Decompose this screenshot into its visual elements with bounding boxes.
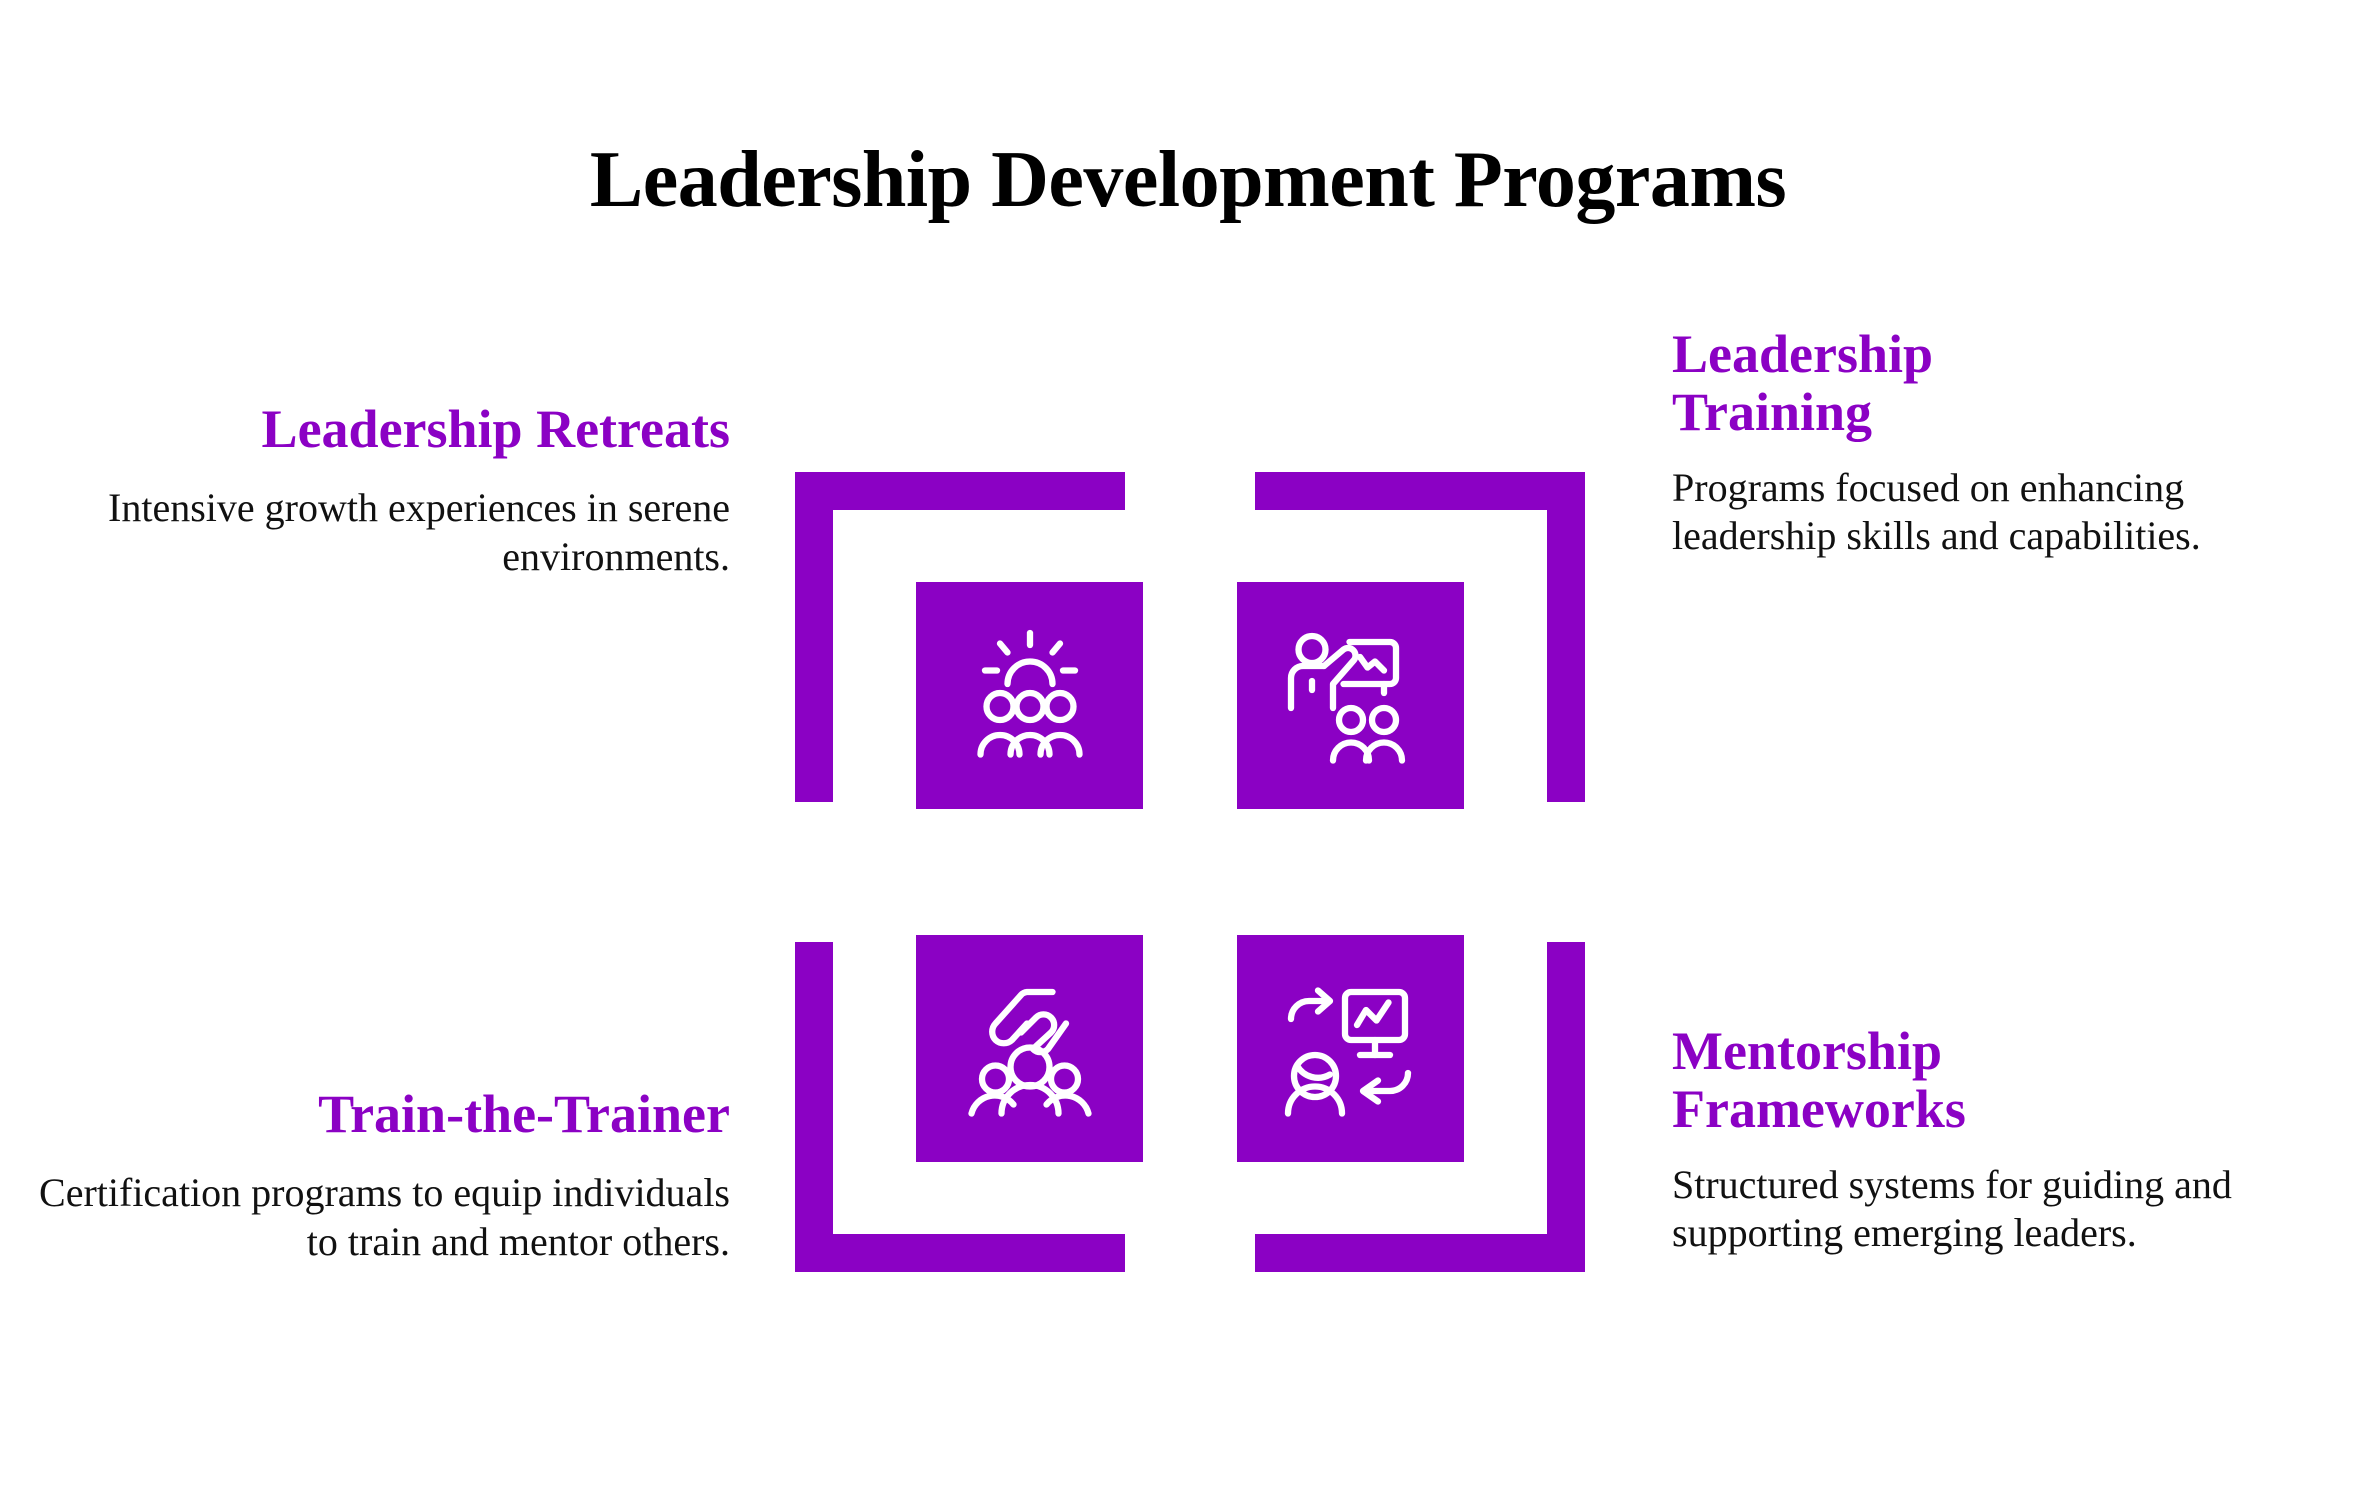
icon-tile-leadership-training[interactable] (1237, 582, 1464, 809)
heading-leadership-retreats: Leadership Retreats (50, 400, 730, 458)
icon-tile-leadership-retreats[interactable] (916, 582, 1143, 809)
bracket-horizontal-arm (1255, 472, 1585, 510)
heading-line-1: Mentorship (1672, 1021, 1942, 1081)
bracket-vertical-arm (1547, 472, 1585, 802)
description-train-the-trainer: Certification programs to equip individu… (30, 1169, 730, 1267)
bracket-vertical-arm (795, 472, 833, 802)
person-exchange-chart-icon (1276, 974, 1426, 1124)
bracket-horizontal-arm (795, 472, 1125, 510)
heading-line-2: Training (1672, 382, 1872, 442)
presenter-whiteboard-icon (1276, 621, 1426, 771)
bracket-horizontal-arm (795, 1234, 1125, 1272)
icon-tile-train-the-trainer[interactable] (916, 935, 1143, 1162)
description-leadership-training: Programs focused on enhancing leadership… (1672, 464, 2352, 562)
bracket-vertical-arm (1547, 942, 1585, 1272)
heading-train-the-trainer: Train-the-Trainer (30, 1085, 730, 1143)
bracket-vertical-arm (795, 942, 833, 1272)
block-leadership-training: Leadership Training Programs focused on … (1672, 325, 2352, 561)
page-title: Leadership Development Programs (0, 140, 2376, 220)
bracket-grid (795, 472, 1585, 1272)
sunrise-group-icon (955, 621, 1105, 771)
heading-mentorship-frameworks: Mentorship Frameworks (1672, 1022, 2372, 1139)
bracket-horizontal-arm (1255, 1234, 1585, 1272)
caring-hands-group-icon (955, 974, 1105, 1124)
heading-line-1: Leadership (1672, 324, 1933, 384)
icon-tile-mentorship-frameworks[interactable] (1237, 935, 1464, 1162)
heading-line-2: Frameworks (1672, 1079, 1966, 1139)
block-train-the-trainer: Train-the-Trainer Certification programs… (30, 1085, 730, 1267)
description-leadership-retreats: Intensive growth experiences in serene e… (50, 484, 730, 582)
block-mentorship-frameworks: Mentorship Frameworks Structured systems… (1672, 1022, 2372, 1258)
description-mentorship-frameworks: Structured systems for guiding and suppo… (1672, 1161, 2372, 1259)
block-leadership-retreats: Leadership Retreats Intensive growth exp… (50, 400, 730, 582)
heading-leadership-training: Leadership Training (1672, 325, 2352, 442)
